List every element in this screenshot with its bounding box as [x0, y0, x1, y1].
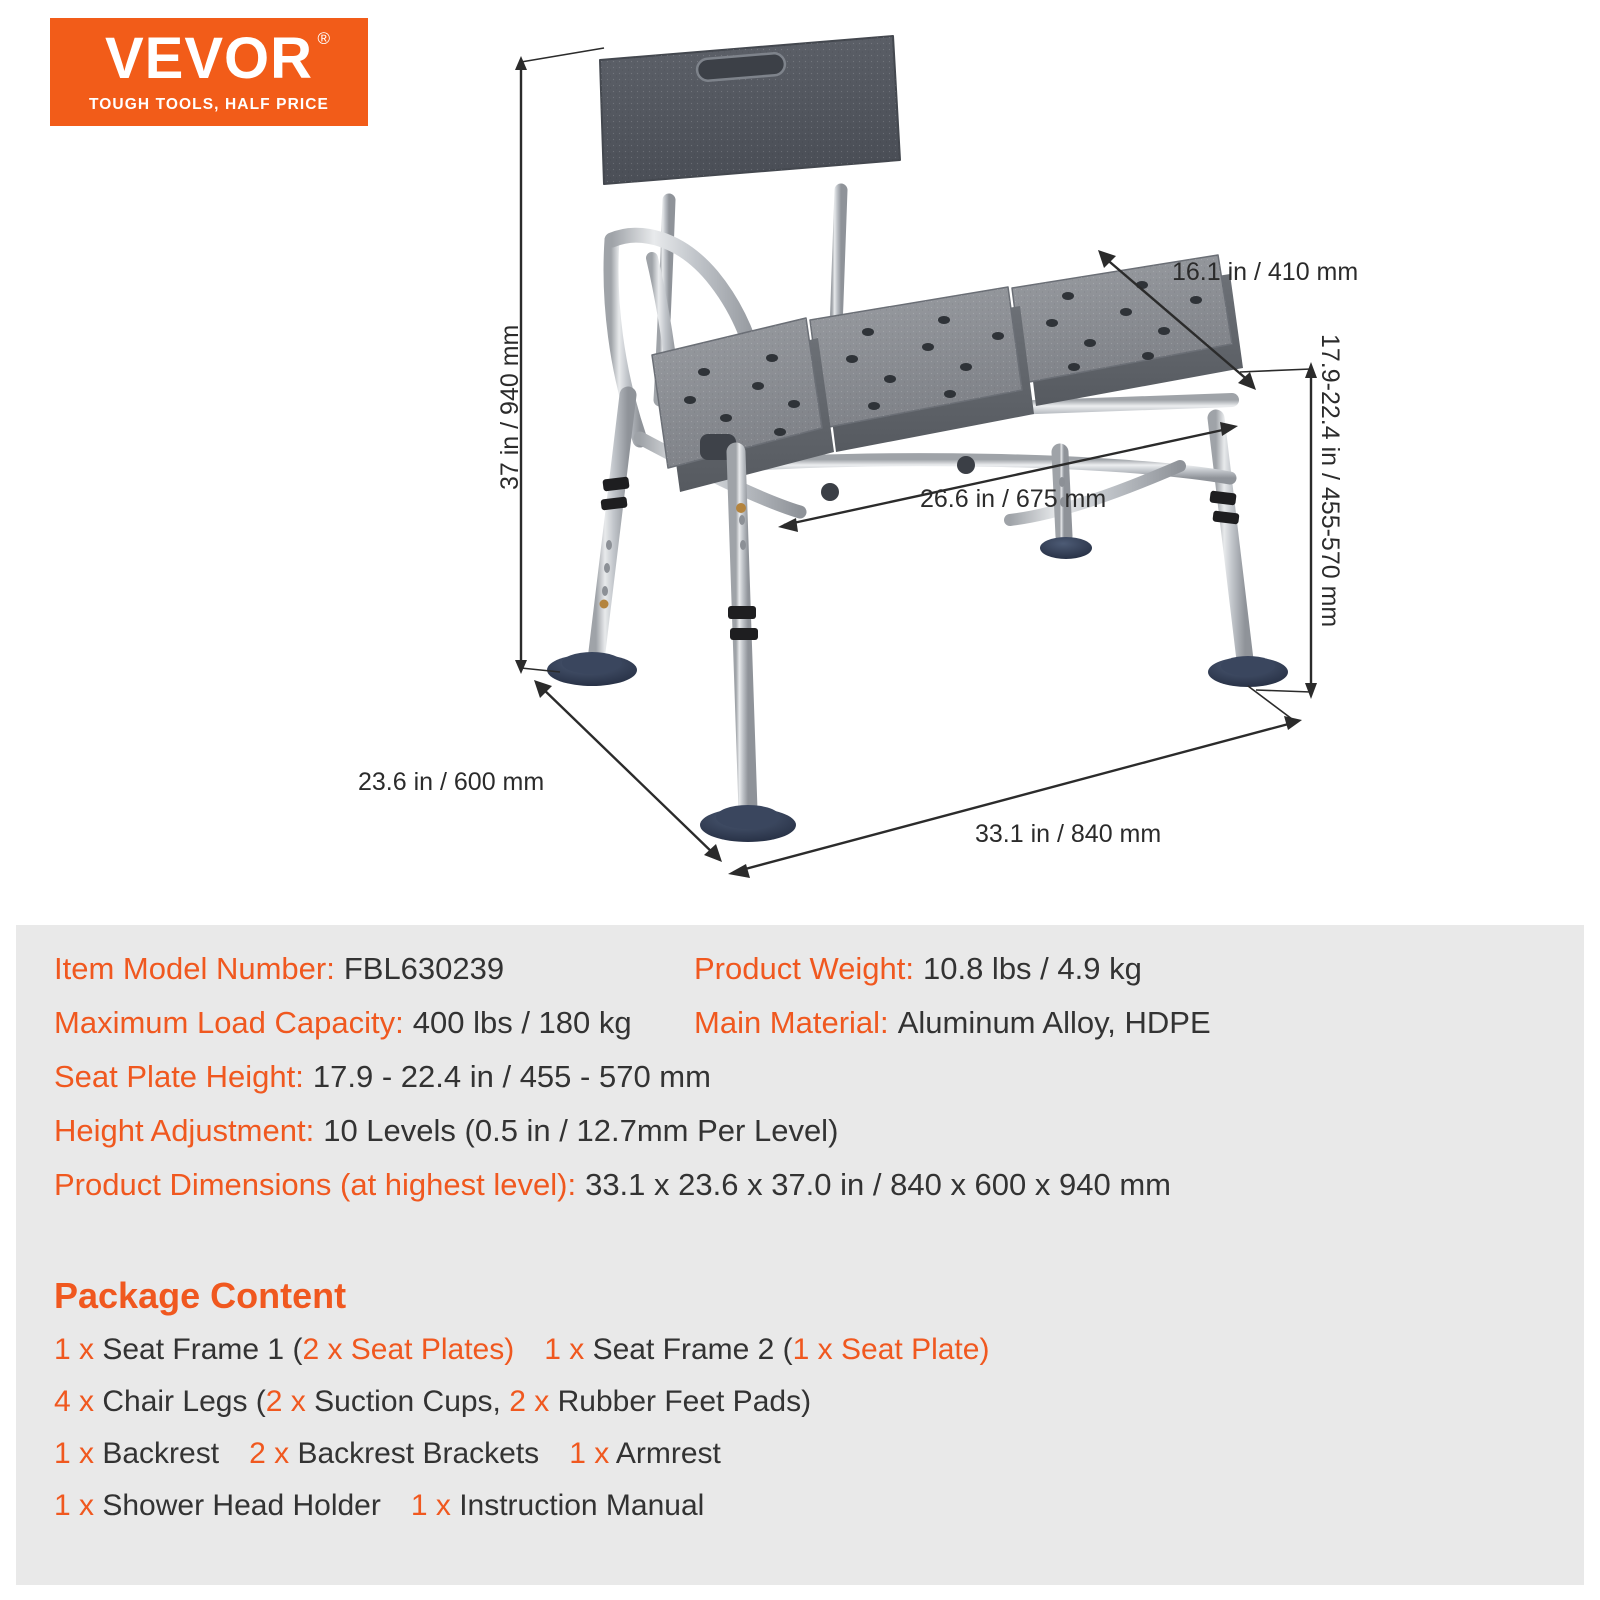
package-item-label: Backrest Brackets — [297, 1437, 539, 1470]
spec-item-main-material: Main Material: Aluminum Alloy, HDPE — [694, 1005, 1211, 1041]
adjust-knob — [600, 600, 609, 609]
spec-item-product-dimensions: Product Dimensions (at highest level): 3… — [54, 1167, 1171, 1203]
leg-collar — [728, 606, 756, 619]
package-qty: 2 x — [249, 1437, 297, 1470]
package-qty: 1 x — [569, 1437, 616, 1470]
package-qty: 1 x — [411, 1489, 459, 1522]
package-item-label: Backrest — [102, 1437, 219, 1470]
frame-knob — [957, 456, 975, 474]
package-row: 1 x Shower Head Holder1 x Instruction Ma… — [54, 1489, 1554, 1541]
spec-value: 33.1 x 23.6 x 37.0 in / 840 x 600 x 940 … — [585, 1167, 1171, 1203]
leg-collar — [602, 476, 629, 491]
suction-cup-top — [562, 652, 622, 674]
spec-item-product-weight: Product Weight: 10.8 lbs / 4.9 kg — [694, 951, 1142, 987]
rubber-feet-pad — [1040, 537, 1092, 559]
spec-row: Seat Plate Height: 17.9 - 22.4 in / 455 … — [54, 1059, 1554, 1113]
package-subitem-label: Rubber Feet Pads) — [558, 1385, 811, 1418]
package-subitem-label: Suction Cups, — [314, 1385, 509, 1418]
package-subitem-label: Seat Plate) — [841, 1333, 989, 1366]
package-qty: 1 x — [544, 1333, 592, 1366]
spec-value: 400 lbs / 180 kg — [413, 1005, 632, 1041]
bench-drawing — [0, 0, 1600, 905]
spec-row: Maximum Load Capacity: 400 lbs / 180 kg … — [54, 1005, 1554, 1059]
dimension-label-seat-depth: 16.1 in / 410 mm — [1172, 258, 1358, 287]
package-qty: 1 x — [54, 1437, 102, 1470]
package-item-label: Shower Head Holder — [102, 1489, 380, 1522]
chair-leg-rear-left — [596, 395, 628, 660]
product-illustration: 37 in / 940 mm 16.1 in / 410 mm 17.9-22.… — [0, 0, 1600, 905]
package-subqty: 2 x — [509, 1385, 557, 1418]
package-item-label: Armrest — [616, 1437, 721, 1470]
spec-key: Maximum Load Capacity: — [54, 1005, 404, 1041]
frame-knob — [821, 483, 839, 501]
package-subqty: 1 x — [793, 1333, 841, 1366]
spec-item-seat-plate-height: Seat Plate Height: 17.9 - 22.4 in / 455 … — [54, 1059, 711, 1095]
specification-panel: Item Model Number: FBL630239 Product Wei… — [16, 925, 1584, 1585]
package-item-label: Instruction Manual — [459, 1489, 704, 1522]
package-row: 4 x Chair Legs (2 x Suction Cups, 2 x Ru… — [54, 1385, 1554, 1437]
leg-collar — [600, 496, 627, 510]
spec-key: Item Model Number: — [54, 951, 335, 987]
spec-item-max-load: Maximum Load Capacity: 400 lbs / 180 kg — [54, 1005, 694, 1041]
spec-row: Item Model Number: FBL630239 Product Wei… — [54, 951, 1554, 1005]
spec-list: Item Model Number: FBL630239 Product Wei… — [54, 951, 1554, 1221]
package-item-label: Chair Legs ( — [102, 1385, 265, 1418]
package-content-list: 1 x Seat Frame 1 (2 x Seat Plates)1 x Se… — [54, 1333, 1554, 1541]
dimline-base-depth — [540, 686, 716, 856]
package-qty: 4 x — [54, 1385, 102, 1418]
spec-key: Product Weight: — [694, 951, 914, 987]
chair-leg-rear-right — [1216, 418, 1245, 660]
seat-plate-middle — [810, 287, 1034, 452]
dimline-total-width — [734, 722, 1296, 872]
spec-value: 17.9 - 22.4 in / 455 - 570 mm — [313, 1059, 711, 1095]
package-qty: 1 x — [54, 1489, 102, 1522]
package-item-label: Seat Frame 1 ( — [102, 1333, 302, 1366]
spec-row: Height Adjustment: 10 Levels (0.5 in / 1… — [54, 1113, 1554, 1167]
suction-cup-top — [716, 805, 780, 829]
package-row: 1 x Backrest2 x Backrest Brackets1 x Arm… — [54, 1437, 1554, 1489]
spec-value: 10.8 lbs / 4.9 kg — [923, 951, 1142, 987]
dimension-label-base-depth: 23.6 in / 600 mm — [358, 768, 544, 797]
spec-item-height-adjustment: Height Adjustment: 10 Levels (0.5 in / 1… — [54, 1113, 838, 1149]
suction-cup-top — [1221, 656, 1275, 676]
dimension-label-total-width: 33.1 in / 840 mm — [975, 820, 1161, 849]
spec-value: 10 Levels (0.5 in / 12.7mm Per Level) — [323, 1113, 838, 1149]
package-content-title: Package Content — [54, 1275, 346, 1317]
package-item-label: Seat Frame 2 ( — [593, 1333, 793, 1366]
dimension-label-seat-plate-height: 17.9-22.4 in / 455-570 mm — [1315, 334, 1344, 627]
product-spec-page: VEVOR ® TOUGH TOOLS, HALF PRICE — [0, 0, 1600, 1600]
package-subqty: 2 x — [302, 1333, 350, 1366]
adjust-knob — [736, 503, 746, 513]
spec-value: FBL630239 — [344, 951, 504, 987]
dimension-label-total-height: 37 in / 940 mm — [496, 325, 525, 490]
spec-row: Product Dimensions (at highest level): 3… — [54, 1167, 1554, 1221]
spec-value: Aluminum Alloy, HDPE — [898, 1005, 1211, 1041]
spec-key: Main Material: — [694, 1005, 889, 1041]
dimension-label-seat-width: 26.6 in / 675 mm — [920, 485, 1106, 514]
spec-key: Seat Plate Height: — [54, 1059, 304, 1095]
spec-item-model-number: Item Model Number: FBL630239 — [54, 951, 694, 987]
spec-key: Height Adjustment: — [54, 1113, 314, 1149]
package-subitem-label: Seat Plates) — [351, 1333, 514, 1366]
spec-key: Product Dimensions (at highest level): — [54, 1167, 576, 1203]
leg-collar — [730, 628, 758, 640]
package-qty: 1 x — [54, 1333, 102, 1366]
package-subqty: 2 x — [266, 1385, 314, 1418]
package-row: 1 x Seat Frame 1 (2 x Seat Plates)1 x Se… — [54, 1333, 1554, 1385]
